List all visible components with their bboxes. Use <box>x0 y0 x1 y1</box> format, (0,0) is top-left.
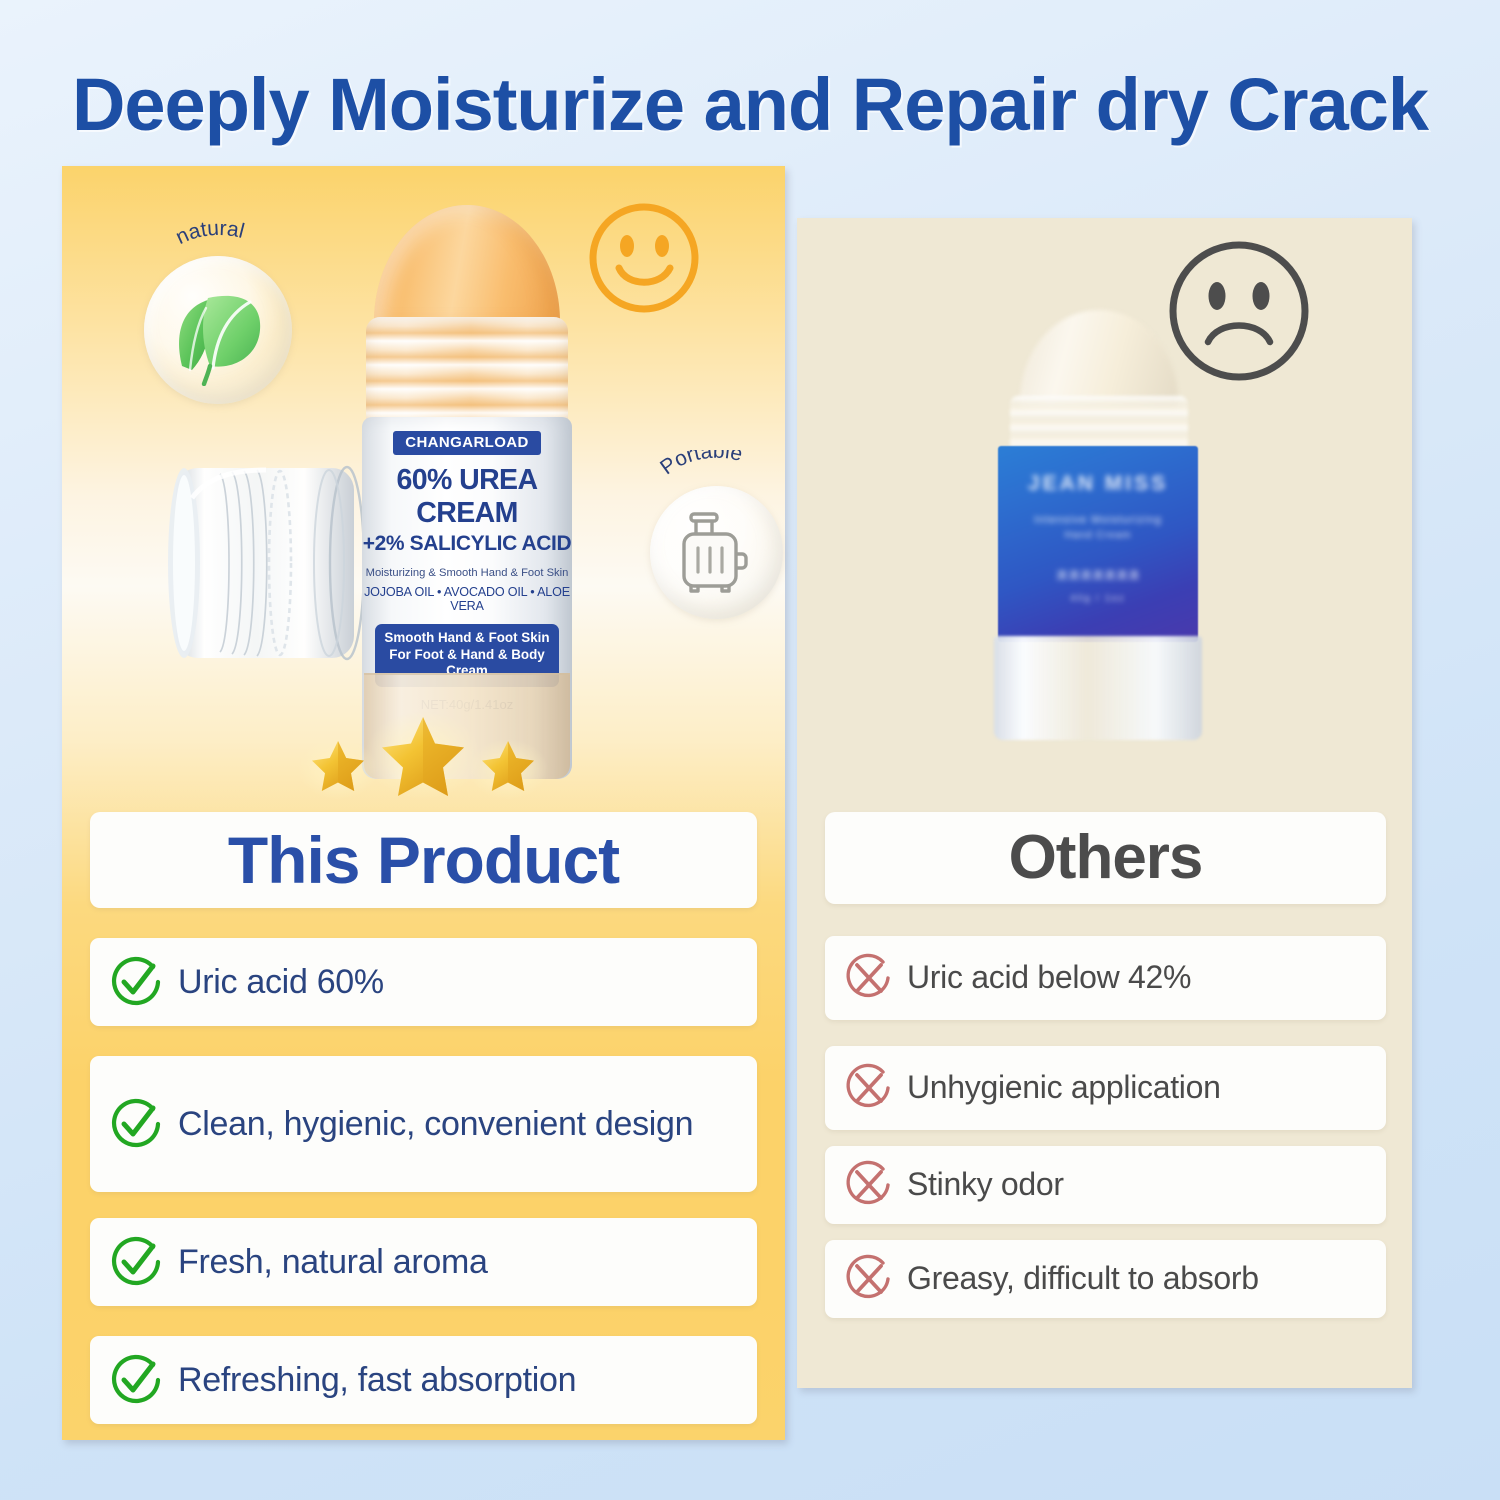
competitor-brand: JEAN MISS <box>998 472 1198 496</box>
competitor-hero-image: JEAN MISS Intensive Moisturizing Hand Cr… <box>797 218 1412 838</box>
portable-badge-label: Portable <box>642 450 792 498</box>
product-cap <box>374 205 560 333</box>
others-header: Others <box>825 812 1386 904</box>
product-subtitle: +2% SALICYLIC ACID <box>362 532 572 556</box>
drawback-text: Unhygienic application <box>907 1069 1221 1107</box>
competitor-base <box>994 636 1202 740</box>
svg-text:Portable: Portable <box>656 450 745 479</box>
cross-circle-icon <box>843 952 895 1004</box>
others-header-text: Others <box>1009 827 1203 889</box>
drawback-text: Uric acid below 42% <box>907 959 1191 997</box>
drawback-row: Stinky odor <box>825 1146 1386 1224</box>
drawback-row: Unhygienic application <box>825 1046 1386 1130</box>
product-description: Moisturizing & Smooth Hand & Foot Skin <box>362 567 572 579</box>
product-hero-image: natural <box>62 166 785 806</box>
portable-badge: Portable <box>650 486 783 619</box>
product-cta-line1: Smooth Hand & Foot Skin <box>377 630 557 647</box>
rating-stars <box>298 711 548 801</box>
competitor-line-3: 滴滴滴滴滴滴滴 <box>998 567 1198 583</box>
drawback-text: Greasy, difficult to absorb <box>907 1260 1259 1298</box>
check-circle-icon <box>108 1234 164 1290</box>
drawback-row: Uric acid below 42% <box>825 936 1386 1020</box>
natural-badge: natural <box>144 256 292 404</box>
competitor-line-4: 40g / 1oz <box>998 593 1198 603</box>
leaf-icon <box>164 274 274 386</box>
feature-row: Clean, hygienic, convenient design <box>90 1056 757 1192</box>
check-circle-icon <box>108 1096 164 1152</box>
feature-row: Refreshing, fast absorption <box>90 1336 757 1424</box>
cross-circle-icon <box>843 1062 895 1114</box>
cross-circle-icon <box>843 1253 895 1305</box>
drawback-text: Stinky odor <box>907 1166 1064 1204</box>
product-threads <box>366 317 568 432</box>
suitcase-icon <box>680 512 754 596</box>
others-panel: JEAN MISS Intensive Moisturizing Hand Cr… <box>797 218 1412 1388</box>
product-brand: CHANGARLOAD <box>393 431 541 455</box>
feature-row: Fresh, natural aroma <box>90 1218 757 1306</box>
feature-text: Refreshing, fast absorption <box>178 1360 576 1400</box>
feature-text: Uric acid 60% <box>178 962 384 1002</box>
smiley-face-icon <box>585 199 703 317</box>
check-circle-icon <box>108 1352 164 1408</box>
cross-circle-icon <box>843 1159 895 1211</box>
feature-row: Uric acid 60% <box>90 938 757 1026</box>
competitor-line-1: Intensive Moisturizing <box>998 514 1198 526</box>
svg-text:natural: natural <box>172 217 246 249</box>
portable-badge-text: Portable <box>656 450 745 479</box>
this-product-panel: natural <box>62 166 785 1440</box>
natural-badge-label: natural <box>138 222 298 272</box>
page-title: Deeply Moisturize and Repair dry Crack <box>0 62 1500 147</box>
competitor-label: JEAN MISS Intensive Moisturizing Hand Cr… <box>998 446 1198 642</box>
feature-text: Clean, hygienic, convenient design <box>178 1104 693 1144</box>
feature-text: Fresh, natural aroma <box>178 1242 488 1282</box>
product-oils: JOJOBA OIL • AVOCADO OIL • ALOE VERA <box>362 585 572 613</box>
competitor-cap <box>1020 310 1178 410</box>
product-title: 60% UREA CREAM <box>362 464 572 530</box>
natural-badge-text: natural <box>172 217 246 249</box>
sad-face-icon <box>1164 236 1314 386</box>
competitor-line-2: Hand Cream <box>998 530 1198 541</box>
transparent-cap-image <box>162 446 377 678</box>
this-product-header: This Product <box>90 812 757 908</box>
drawback-row: Greasy, difficult to absorb <box>825 1240 1386 1318</box>
this-product-header-text: This Product <box>228 827 619 893</box>
check-circle-icon <box>108 954 164 1010</box>
